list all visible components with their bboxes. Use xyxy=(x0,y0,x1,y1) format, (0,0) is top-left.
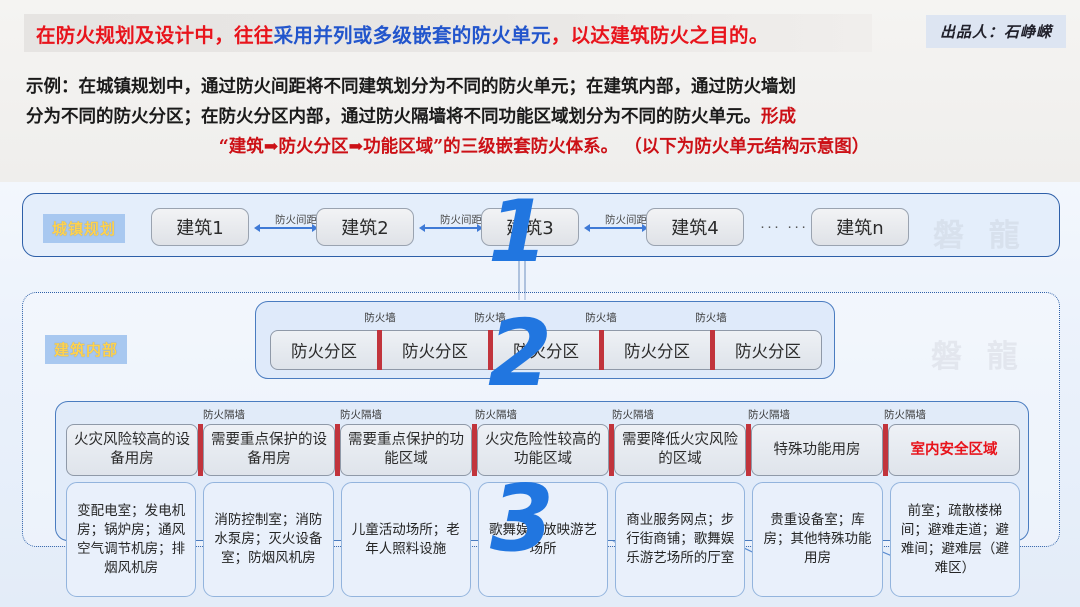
partition-label-4: 防火隔墙 xyxy=(612,407,654,422)
gap-label-3: 防火间距 xyxy=(605,212,647,227)
gap-label-1: 防火间距 xyxy=(275,212,317,227)
body-line-2-highlight: 形成 xyxy=(761,107,796,127)
function-title-3[interactable]: 需要重点保护的功能区域 xyxy=(340,424,472,476)
author-credit: 出品人：石峥嵘 xyxy=(926,15,1066,48)
body-line-1: 示例：在城镇规划中，通过防火间距将不同建筑划分为不同的防火单元；在建筑内部，通过… xyxy=(26,72,1062,102)
title-segment-1: 在防火规划及设计中，往往 xyxy=(36,24,274,47)
level2-tag: 建筑内部 xyxy=(45,335,127,364)
firewall-label-1: 防火墙 xyxy=(364,310,396,325)
function-detail-7[interactable]: 前室；疏散楼梯间；避难走道；避难间；避难层（避难区） xyxy=(890,482,1020,597)
function-title-strip: 火灾风险较高的设备用房 需要重点保护的设备用房 需要重点保护的功能区域 火灾危险… xyxy=(66,424,1020,476)
page-title: 在防火规划及设计中，往往采用并列或多级嵌套的防火单元，以达建筑防火之目的。 xyxy=(36,19,769,48)
building-node-4[interactable]: 建筑4 xyxy=(646,208,744,246)
function-title-5[interactable]: 需要降低火灾风险的区域 xyxy=(614,424,746,476)
fire-compartment-3[interactable]: 防火分区 xyxy=(493,338,599,362)
building-node-2[interactable]: 建筑2 xyxy=(316,208,414,246)
body-line-2: 分为不同的防火分区；在防火分区内部，通过防火隔墙将不同功能区域划分为不同的防火单… xyxy=(26,102,1062,132)
fire-compartment-strip: 防火分区 防火分区 防火分区 防火分区 防火分区 xyxy=(270,330,822,370)
fire-compartment-group: 防火墙 防火墙 防火墙 防火墙 防火分区 防火分区 防火分区 防火分区 防火分区 xyxy=(255,301,835,379)
function-title-1[interactable]: 火灾风险较高的设备用房 xyxy=(66,424,198,476)
function-zone-group: 防火隔墙 防火隔墙 防火隔墙 防火隔墙 防火隔墙 防火隔墙 火灾风险较高的设备用… xyxy=(55,401,1029,541)
partition-label-6: 防火隔墙 xyxy=(884,407,926,422)
body-line-2-main: 分为不同的防火分区；在防火分区内部，通过防火隔墙将不同功能区域划分为不同的防火单… xyxy=(26,107,761,127)
body-line-3: “建筑➡防火分区➡功能区域”的三级嵌套防火体系。 （以下为防火单元结构示意图） xyxy=(26,132,1062,162)
level1-tag: 城镇规划 xyxy=(43,214,125,243)
function-detail-2[interactable]: 消防控制室；消防水泵房；灭火设备室；防烟风机房 xyxy=(203,482,333,597)
function-title-7[interactable]: 室内安全区域 xyxy=(888,424,1020,476)
ellipsis-label: ··· ··· xyxy=(760,218,808,235)
fire-compartment-2[interactable]: 防火分区 xyxy=(382,338,488,362)
fire-compartment-5[interactable]: 防火分区 xyxy=(715,338,821,362)
function-title-4[interactable]: 火灾危险性较高的功能区域 xyxy=(477,424,609,476)
function-detail-5[interactable]: 商业服务网点；步行街商铺；歌舞娱乐游艺场所的厅室 xyxy=(615,482,745,597)
function-title-6[interactable]: 特殊功能用房 xyxy=(751,424,883,476)
gap-arrow-2 xyxy=(424,227,478,229)
diagram-area: 城镇规划 建筑1 防火间距 建筑2 防火间距 建筑3 防火间距 建筑4 ··· … xyxy=(0,182,1080,607)
function-detail-3[interactable]: 儿童活动场所；老年人照料设施 xyxy=(341,482,471,597)
gap-label-2: 防火间距 xyxy=(440,212,482,227)
function-detail-6[interactable]: 贵重设备室；库房；其他特殊功能用房 xyxy=(752,482,882,597)
gap-arrow-3 xyxy=(589,227,643,229)
function-detail-4[interactable]: 歌舞娱乐放映游艺场所 xyxy=(478,482,608,597)
function-title-2[interactable]: 需要重点保护的设备用房 xyxy=(203,424,335,476)
building-node-1[interactable]: 建筑1 xyxy=(151,208,249,246)
partition-label-2: 防火隔墙 xyxy=(340,407,382,422)
function-detail-1[interactable]: 变配电室；发电机房；锅炉房；通风空气调节机房；排烟风机房 xyxy=(66,482,196,597)
firewall-label-4: 防火墙 xyxy=(695,310,727,325)
header-band: 在防火规划及设计中，往往采用并列或多级嵌套的防火单元，以达建筑防火之目的。 出品… xyxy=(0,0,1080,182)
building-node-n[interactable]: 建筑n xyxy=(811,208,909,246)
gap-arrow-1 xyxy=(259,227,313,229)
building-node-3[interactable]: 建筑3 xyxy=(481,208,579,246)
partition-label-5: 防火隔墙 xyxy=(748,407,790,422)
partition-label-3: 防火隔墙 xyxy=(475,407,517,422)
fire-compartment-1[interactable]: 防火分区 xyxy=(271,338,377,362)
title-bar: 在防火规划及设计中，往往采用并列或多级嵌套的防火单元，以达建筑防火之目的。 xyxy=(24,14,872,52)
watermark-level2: 磐 龍 xyxy=(931,331,1025,376)
level1-panel: 城镇规划 建筑1 防火间距 建筑2 防火间距 建筑3 防火间距 建筑4 ··· … xyxy=(22,193,1060,257)
title-segment-2: 采用并列或多级嵌套的防火单元 xyxy=(274,24,551,47)
fire-compartment-4[interactable]: 防火分区 xyxy=(604,338,710,362)
level2-panel: 建筑内部 磐 龍 防火墙 防火墙 防火墙 防火墙 防火分区 防火分区 防火分区 … xyxy=(22,292,1060,547)
body-paragraph: 示例：在城镇规划中，通过防火间距将不同建筑划分为不同的防火单元；在建筑内部，通过… xyxy=(26,72,1062,162)
function-detail-strip: 变配电室；发电机房；锅炉房；通风空气调节机房；排烟风机房 消防控制室；消防水泵房… xyxy=(66,482,1020,597)
title-segment-3: ，以达建筑防火之目的。 xyxy=(551,24,769,47)
partition-label-1: 防火隔墙 xyxy=(203,407,245,422)
firewall-label-3: 防火墙 xyxy=(585,310,617,325)
firewall-label-2: 防火墙 xyxy=(474,310,506,325)
watermark-level1: 磐 龍 xyxy=(933,210,1027,255)
